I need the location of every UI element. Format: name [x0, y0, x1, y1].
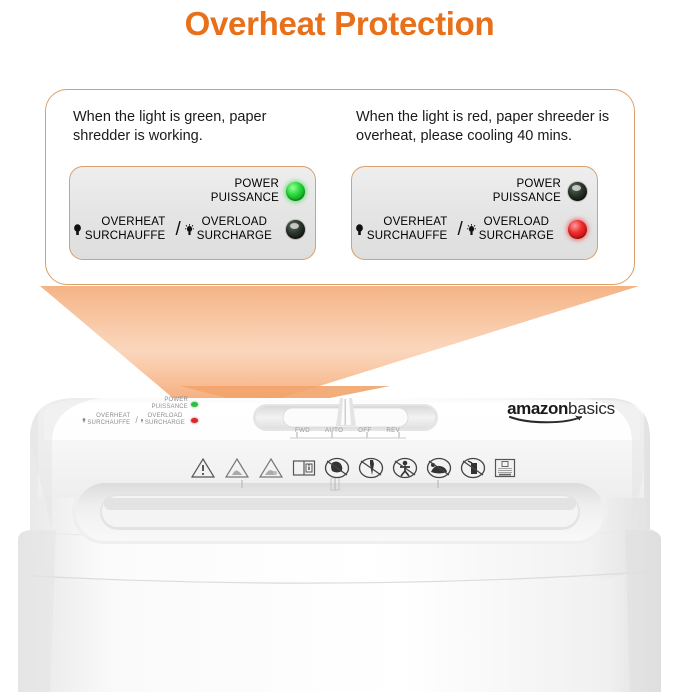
product-power-led: [191, 402, 198, 407]
lit-bulb-icon: [185, 224, 194, 236]
brand-logo: amazonbasics: [507, 399, 615, 424]
overload-group-red: OVERLOAD SURCHARGE: [467, 216, 561, 243]
label-separator: /: [175, 219, 180, 241]
product-overload-led: [191, 418, 198, 423]
overload-label-en: OVERLOAD: [202, 216, 268, 230]
power-indicator-row-green: POWER PUISSANCE: [211, 178, 305, 205]
overheat-label-fr: SURCHAUFFE: [85, 230, 166, 244]
power-label-fr: PUISSANCE: [493, 192, 561, 206]
warning-hand-triangle-icon: [224, 457, 250, 479]
overload-group-green: OVERLOAD SURCHARGE: [185, 216, 279, 243]
power-label-fr: PUISSANCE: [211, 192, 279, 206]
product-power-label: POWER PUISSANCE: [152, 397, 188, 411]
switch-label-auto[interactable]: AUTO: [325, 427, 343, 434]
bulb-icon: [355, 224, 364, 236]
callout-green-description: When the light is green, paper shredder …: [73, 108, 323, 146]
overheat-group-red: OVERHEAT SURCHAUFFE: [355, 216, 455, 243]
overload-led-red: [568, 220, 587, 239]
product-overheat-label-en: OVERHEAT: [96, 413, 130, 420]
label-separator: /: [457, 219, 462, 241]
warning-hair-triangle-icon: [258, 457, 284, 479]
switch-position-labels: FWD AUTO OFF REV: [295, 427, 400, 434]
product-power-label-fr: PUISSANCE: [152, 404, 188, 411]
no-pets-icon: [426, 457, 452, 479]
switch-label-fwd[interactable]: FWD: [295, 427, 310, 434]
certification-label-icon: [494, 457, 516, 479]
overload-led-green: [286, 220, 305, 239]
warning-exclamation-triangle-icon: [190, 457, 216, 479]
overheat-overload-row-green: OVERHEAT SURCHAUFFE / OVERLOAD SURCHARGE: [78, 216, 305, 243]
overheat-label-en: OVERHEAT: [101, 216, 165, 230]
switch-label-off[interactable]: OFF: [358, 427, 371, 434]
no-hands-icon: [324, 457, 350, 479]
power-led-red: [568, 182, 587, 201]
power-label-group-red: POWER PUISSANCE: [493, 178, 561, 205]
product-indicator-panel: POWER PUISSANCE OVERHEAT SURCHAUFFE / OV…: [88, 397, 198, 429]
brand-logo-basics: basics: [568, 399, 615, 418]
overload-label-group-green: OVERLOAD SURCHARGE: [197, 216, 272, 243]
overheat-label-group-green: OVERHEAT SURCHAUFFE: [85, 216, 166, 243]
overheat-label-group-red: OVERHEAT SURCHAUFFE: [367, 216, 448, 243]
overload-label-group-red: OVERLOAD SURCHARGE: [479, 216, 554, 243]
product-overload-label-fr: SURCHARGE: [145, 420, 185, 427]
led-panel-green: POWER PUISSANCE OVERHEAT SURCHAUFFE /: [69, 166, 316, 260]
bulb-icon: [73, 224, 82, 236]
overheat-label-en: OVERHEAT: [383, 216, 447, 230]
callout-red-state: When the light is red, paper shreeder is…: [341, 90, 636, 286]
power-label-en: POWER: [517, 178, 561, 192]
no-children-icon: [392, 457, 418, 479]
switch-label-rev[interactable]: REV: [386, 427, 400, 434]
overload-label-en: OVERLOAD: [484, 216, 550, 230]
bulb-icon: [82, 418, 86, 423]
product-overload-label: OVERLOAD SURCHARGE: [145, 413, 185, 427]
overheat-group-green: OVERHEAT SURCHAUFFE: [73, 216, 173, 243]
product-overheat-label-fr: SURCHAUFFE: [87, 420, 130, 427]
product-overheat-label: OVERHEAT SURCHAUFFE: [87, 413, 130, 427]
product-overload-label-en: OVERLOAD: [147, 413, 182, 420]
product-overheat-overload-row: OVERHEAT SURCHAUFFE / OVERLOAD SURCHARGE: [82, 413, 198, 427]
callout-green-state: When the light is green, paper shredder …: [46, 90, 341, 286]
product-power-row: POWER PUISSANCE: [152, 397, 198, 411]
callout-red-description: When the light is red, paper shreeder is…: [356, 108, 626, 146]
lit-bulb-icon: [140, 418, 144, 423]
paper-shredder-product: POWER PUISSANCE OVERHEAT SURCHAUFFE / OV…: [0, 380, 679, 692]
icon-row-tick-marks: [190, 478, 520, 492]
brand-logo-amazon: amazon: [507, 399, 568, 418]
callout-card: When the light is green, paper shredder …: [45, 89, 635, 285]
overheat-label-fr: SURCHAUFFE: [367, 230, 448, 244]
page-title: Overheat Protection: [0, 0, 679, 48]
no-aerosol-spray-icon: [460, 457, 486, 479]
overload-label-fr: SURCHARGE: [197, 230, 272, 244]
overload-label-fr: SURCHARGE: [479, 230, 554, 244]
product-label-separator: /: [135, 415, 138, 425]
overheat-overload-row-red: OVERHEAT SURCHAUFFE / OVERLOAD SURCHARGE: [360, 216, 587, 243]
power-label-en: POWER: [235, 178, 279, 192]
power-led-green: [286, 182, 305, 201]
led-panel-red: POWER PUISSANCE OVERHEAT SURCHAUFFE /: [351, 166, 598, 260]
lit-bulb-icon: [467, 224, 476, 236]
product-power-label-en: POWER: [164, 397, 188, 404]
no-necktie-icon: [358, 457, 384, 479]
read-manual-book-icon: [292, 458, 316, 478]
power-label-group-green: POWER PUISSANCE: [211, 178, 279, 205]
power-indicator-row-red: POWER PUISSANCE: [493, 178, 587, 205]
